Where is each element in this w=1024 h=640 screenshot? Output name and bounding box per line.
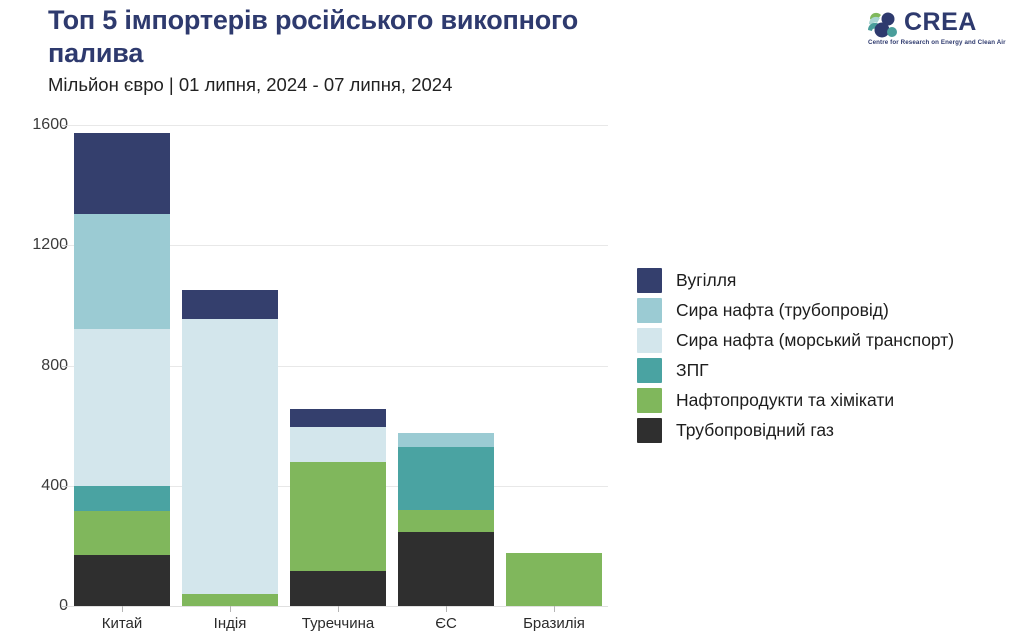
bar-0[interactable] — [74, 125, 170, 606]
y-tick-mark — [61, 606, 67, 607]
x-tick-label-3: ЄС — [392, 615, 500, 632]
legend-label: Трубопровідний газ — [676, 420, 834, 441]
chart-subtitle: Мільйон євро | 01 липня, 2024 - 07 липня… — [48, 74, 748, 96]
legend-label: Вугілля — [676, 270, 736, 291]
legend-swatch-icon — [637, 298, 662, 323]
legend-item-1[interactable]: Сира нафта (трубопровід) — [637, 295, 1024, 325]
x-tick-label-0: Китай — [68, 615, 176, 632]
chart-header: Топ 5 імпортерів російського викопного п… — [0, 0, 1024, 108]
plot-area — [68, 125, 608, 606]
legend-swatch-icon — [637, 328, 662, 353]
bar-segment[interactable] — [398, 433, 494, 447]
y-tick-mark — [61, 245, 67, 246]
crea-mark-icon — [866, 10, 900, 42]
y-tick-mark — [61, 125, 67, 126]
bar-2[interactable] — [290, 125, 386, 606]
x-tick-mark — [122, 606, 123, 612]
crea-wordmark: CREA — [904, 8, 977, 37]
legend-label: Сира нафта (трубопровід) — [676, 300, 889, 321]
bar-segment[interactable] — [74, 511, 170, 555]
x-tick-label-4: Бразилія — [500, 615, 608, 632]
legend-swatch-icon — [637, 388, 662, 413]
legend-item-5[interactable]: Трубопровідний газ — [637, 415, 1024, 445]
x-axis: КитайІндіяТуреччинаЄСБразилія — [68, 606, 608, 640]
x-tick-mark — [338, 606, 339, 612]
legend-item-0[interactable]: Вугілля — [637, 265, 1024, 295]
legend-label: Сира нафта (морський транспорт) — [676, 330, 954, 351]
bar-segment[interactable] — [398, 532, 494, 606]
bar-4[interactable] — [506, 125, 602, 606]
bar-segment[interactable] — [74, 555, 170, 606]
bar-segment[interactable] — [74, 133, 170, 214]
legend-swatch-icon — [637, 418, 662, 443]
bar-segment[interactable] — [290, 427, 386, 462]
bar-segment[interactable] — [398, 447, 494, 510]
x-tick-mark — [446, 606, 447, 612]
bar-segment[interactable] — [182, 594, 278, 606]
legend-item-2[interactable]: Сира нафта (морський транспорт) — [637, 325, 1024, 355]
y-tick-label: 0 — [10, 597, 68, 615]
legend-item-3[interactable]: ЗПГ — [637, 355, 1024, 385]
y-tick-label: 1200 — [10, 236, 68, 254]
x-tick-label-2: Туреччина — [284, 615, 392, 632]
bar-1[interactable] — [182, 125, 278, 606]
x-tick-mark — [554, 606, 555, 612]
bar-segment[interactable] — [506, 553, 602, 606]
chart-legend: ВугілляСира нафта (трубопровід)Сира нафт… — [637, 265, 1024, 445]
y-tick-label: 400 — [10, 477, 68, 495]
bar-segment[interactable] — [290, 409, 386, 427]
legend-item-4[interactable]: Нафтопродукти та хімікати — [637, 385, 1024, 415]
bar-segment[interactable] — [182, 290, 278, 319]
y-tick-label: 800 — [10, 357, 68, 375]
legend-swatch-icon — [637, 358, 662, 383]
crea-logo: CREA Centre for Research on Energy and C… — [862, 8, 1010, 52]
bar-segment[interactable] — [290, 571, 386, 606]
bar-segment[interactable] — [74, 486, 170, 512]
bar-segment[interactable] — [290, 462, 386, 572]
legend-swatch-icon — [637, 268, 662, 293]
y-axis: 040080012001600 — [0, 125, 68, 607]
bar-segment[interactable] — [398, 510, 494, 533]
bar-segment[interactable] — [182, 319, 278, 594]
x-tick-mark — [230, 606, 231, 612]
bar-3[interactable] — [398, 125, 494, 606]
bar-segment[interactable] — [74, 214, 170, 330]
legend-label: ЗПГ — [676, 360, 709, 381]
legend-label: Нафтопродукти та хімікати — [676, 390, 894, 411]
y-tick-mark — [61, 486, 67, 487]
y-tick-label: 1600 — [10, 116, 68, 134]
crea-tagline: Centre for Research on Energy and Clean … — [868, 39, 1006, 46]
page-title: Топ 5 імпортерів російського викопного п… — [48, 4, 728, 70]
x-tick-label-1: Індія — [176, 615, 284, 632]
bar-segment[interactable] — [74, 329, 170, 485]
y-tick-mark — [61, 366, 67, 367]
